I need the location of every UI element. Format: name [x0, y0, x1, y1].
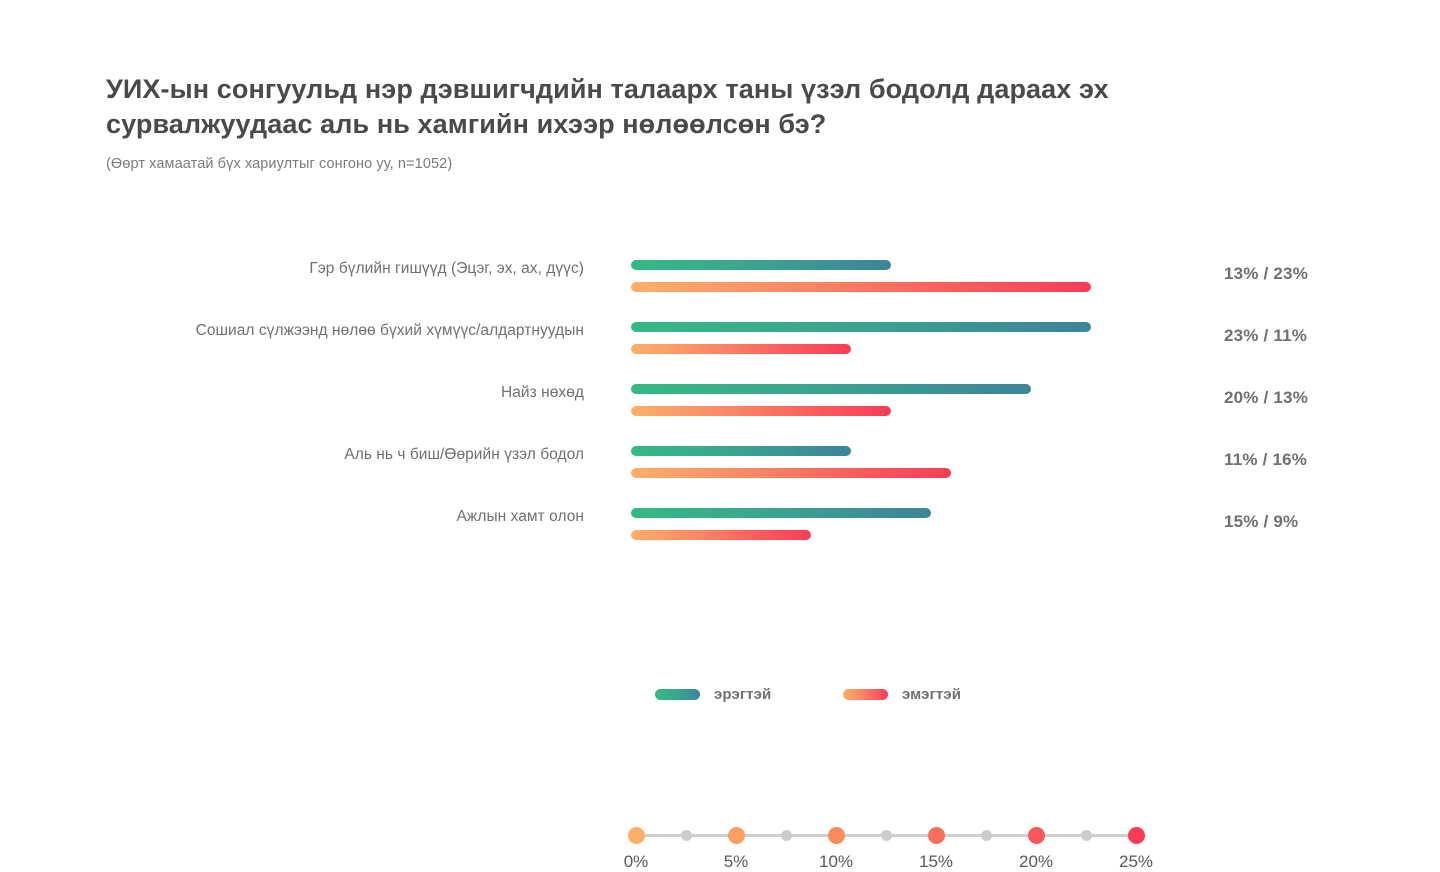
legend-label: эмэгтэй: [902, 686, 961, 703]
axis-tick-label: 5%: [724, 852, 749, 872]
bar-male: [631, 322, 1091, 332]
axis-major-dot: [1028, 827, 1045, 844]
row-value-label: 11% / 16%: [1224, 450, 1307, 470]
axis-major-dot: [1128, 827, 1145, 844]
chart-page: УИХ-ын сонгуульд нэр дэвшигчдийн талаарх…: [0, 0, 1440, 810]
bar-male: [631, 508, 931, 518]
page-title: УИХ-ын сонгуульд нэр дэвшигчдийн талаарх…: [106, 72, 1156, 142]
bar-female: [631, 406, 891, 416]
axis-tick-label: 25%: [1119, 852, 1153, 872]
bar-male: [631, 260, 891, 270]
bar-female: [631, 530, 811, 540]
row-value-label: 15% / 9%: [1224, 512, 1298, 532]
category-label: Ажлын хамт олон: [64, 508, 584, 526]
axis-major-dot: [828, 827, 845, 844]
chart-row: Ажлын хамт олон15% / 9%: [0, 491, 1440, 553]
axis-tick-label: 0%: [624, 852, 649, 872]
row-value-label: 23% / 11%: [1224, 326, 1307, 346]
chart-body: Гэр бүлийн гишүүд (Эцэг, эх, ах, дүүс)13…: [0, 243, 1440, 663]
bar-pair: [631, 508, 1151, 542]
axis-major-dot: [728, 827, 745, 844]
category-label: Аль нь ч биш/Өөрийн үзэл бодол: [64, 446, 584, 464]
legend-swatch-male: [655, 689, 700, 700]
row-value-label: 13% / 23%: [1224, 264, 1308, 284]
bar-pair: [631, 322, 1151, 356]
chart-header: УИХ-ын сонгуульд нэр дэвшигчдийн талаарх…: [106, 72, 1156, 172]
legend-label: эрэгтэй: [714, 686, 771, 703]
chart-legend: эрэгтэйэмэгтэй: [0, 686, 1440, 716]
category-label: Найз нөхөд: [64, 384, 584, 402]
chart-row: Гэр бүлийн гишүүд (Эцэг, эх, ах, дүүс)13…: [0, 243, 1440, 305]
bar-male: [631, 446, 851, 456]
legend-item-male[interactable]: эрэгтэй: [655, 686, 771, 703]
row-value-label: 20% / 13%: [1224, 388, 1308, 408]
bar-female: [631, 468, 951, 478]
bar-female: [631, 344, 851, 354]
bar-female: [631, 282, 1091, 292]
chart-row: Найз нөхөд20% / 13%: [0, 367, 1440, 429]
chart-axis: 0%5%10%15%20%25%: [0, 563, 1440, 653]
bar-pair: [631, 446, 1151, 480]
axis-major-dot: [928, 827, 945, 844]
legend-item-female[interactable]: эмэгтэй: [843, 686, 961, 703]
axis-minor-dot: [781, 830, 792, 841]
legend-swatch-female: [843, 689, 888, 700]
category-label: Сошиал сүлжээнд нөлөө бүхий хүмүүс/алдар…: [64, 322, 584, 340]
axis-tick-label: 10%: [819, 852, 853, 872]
axis-tick-label: 20%: [1019, 852, 1053, 872]
axis-tick-label: 15%: [919, 852, 953, 872]
axis-minor-dot: [1081, 830, 1092, 841]
chart-row: Сошиал сүлжээнд нөлөө бүхий хүмүүс/алдар…: [0, 305, 1440, 367]
chart-row: Аль нь ч биш/Өөрийн үзэл бодол11% / 16%: [0, 429, 1440, 491]
axis-minor-dot: [881, 830, 892, 841]
bar-pair: [631, 384, 1151, 418]
category-label: Гэр бүлийн гишүүд (Эцэг, эх, ах, дүүс): [64, 260, 584, 278]
chart-subtitle: (Өөрт хамаатай бүх хариултыг сонгоно уу,…: [106, 156, 1156, 172]
axis-minor-dot: [981, 830, 992, 841]
axis-major-dot: [628, 827, 645, 844]
bar-pair: [631, 260, 1151, 294]
axis-minor-dot: [681, 830, 692, 841]
bar-rows: Гэр бүлийн гишүүд (Эцэг, эх, ах, дүүс)13…: [0, 243, 1440, 553]
bar-male: [631, 384, 1031, 394]
